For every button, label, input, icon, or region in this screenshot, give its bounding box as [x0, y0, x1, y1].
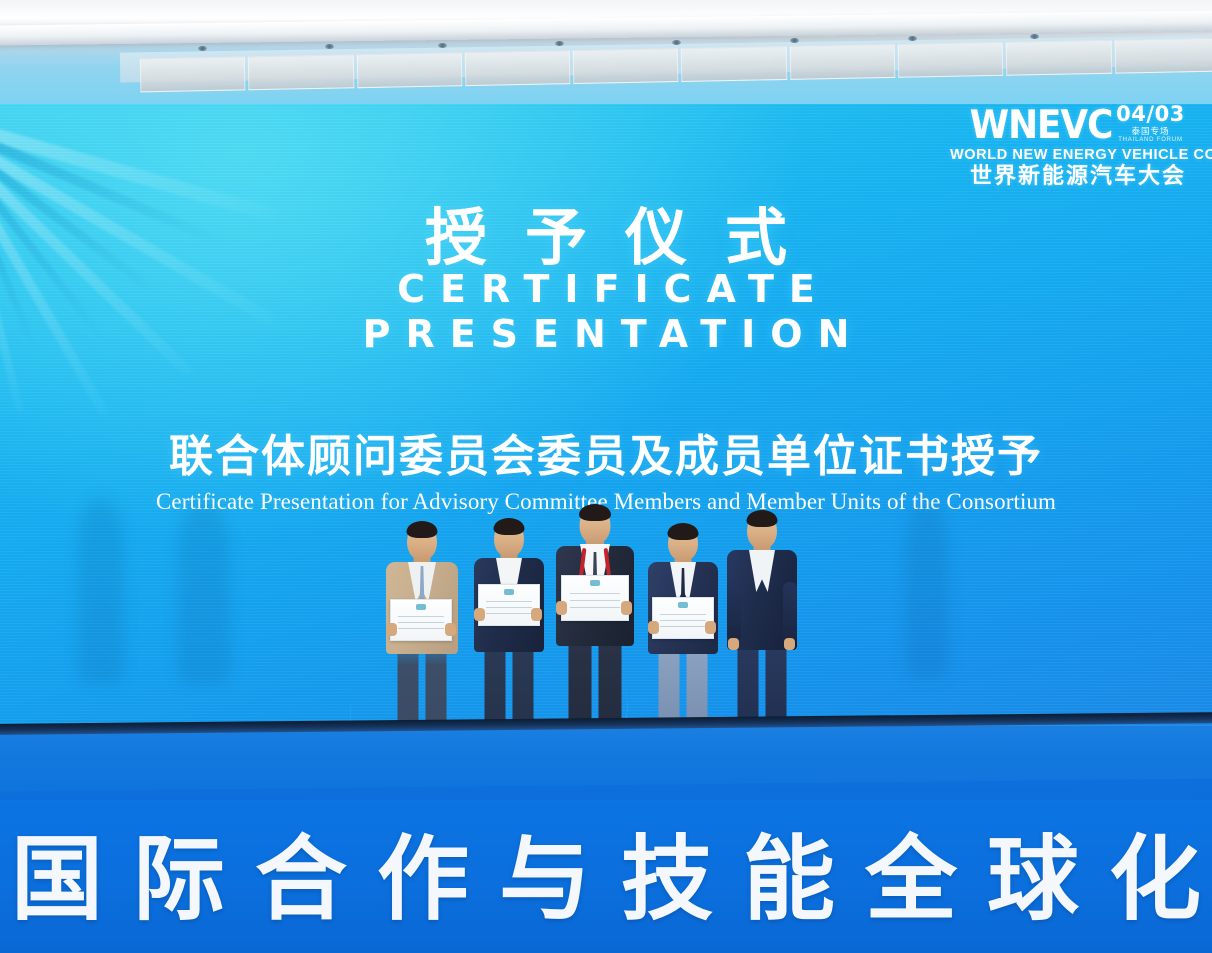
ceiling-downlight: [1030, 34, 1039, 39]
certificate-line: [570, 593, 620, 594]
bottom-banner-text: 国际合作与技能全球化: [0, 834, 1212, 926]
ceiling-panel: [1114, 38, 1212, 74]
hand-right: [784, 638, 795, 650]
arm-right: [783, 582, 797, 642]
person-3-center-dark-suit: [554, 504, 636, 754]
hair: [668, 523, 699, 540]
certificate-line: [486, 601, 532, 602]
hair: [407, 521, 438, 538]
certificate-line: [660, 626, 706, 627]
hair: [579, 504, 611, 521]
ceiling-panel: [681, 46, 787, 82]
ceiling-panel: [789, 44, 895, 80]
certificate-seal: [590, 580, 600, 586]
ceiling-panel: [356, 52, 462, 88]
hair: [747, 510, 778, 527]
certificate-line: [570, 600, 620, 601]
ceiling-panel: [898, 42, 1004, 78]
hand-left: [474, 608, 485, 621]
certificate-line: [486, 607, 532, 608]
hand-right: [531, 608, 542, 621]
certificate-seal: [678, 602, 688, 608]
certificate-line: [660, 620, 706, 621]
certificate-line: [398, 616, 444, 617]
certificate-line: [398, 622, 444, 623]
ceiling-downlight: [672, 40, 681, 45]
ceiling-downlight: [325, 44, 334, 49]
hand-left: [728, 638, 739, 650]
hand-left: [386, 623, 397, 636]
ceiling-downlight: [555, 41, 564, 46]
ceiling-downlight: [198, 46, 207, 51]
arm-left: [727, 582, 741, 642]
certificate-seal: [504, 589, 514, 595]
certificate-line: [570, 607, 620, 608]
certificate-line: [660, 614, 706, 615]
ceiling-downlight: [908, 36, 917, 41]
ceiling-panel: [465, 50, 571, 86]
certificate: [561, 575, 629, 621]
ceiling-panel: [140, 56, 246, 92]
hair: [494, 518, 525, 535]
background-silhouette: [178, 504, 230, 684]
certificate: [478, 584, 540, 626]
venue-ceiling: [0, 0, 1212, 112]
background-silhouette: [905, 504, 949, 679]
certificate: [652, 597, 714, 639]
ceiling-downlight: [438, 43, 447, 48]
ceiling-panel: [1006, 40, 1112, 76]
ceiling-panel: [248, 54, 354, 90]
hand-left: [556, 601, 567, 615]
hand-left: [648, 621, 659, 634]
hand-right: [705, 621, 716, 634]
certificate-line: [486, 613, 532, 614]
hand-right: [445, 623, 456, 636]
hand-right: [621, 601, 632, 615]
ceiling-panel: [573, 48, 679, 84]
background-silhouette: [78, 499, 124, 684]
certificate: [390, 599, 452, 641]
ceiling-downlight: [790, 38, 799, 43]
bottom-banner: 国际合作与技能全球化: [0, 800, 1212, 953]
certificate-seal: [416, 604, 426, 610]
stage-photograph: WNEVC 04/03 泰国专场 THAILAND FORUM WORLD NE…: [0, 0, 1212, 953]
certificate-line: [398, 628, 444, 629]
